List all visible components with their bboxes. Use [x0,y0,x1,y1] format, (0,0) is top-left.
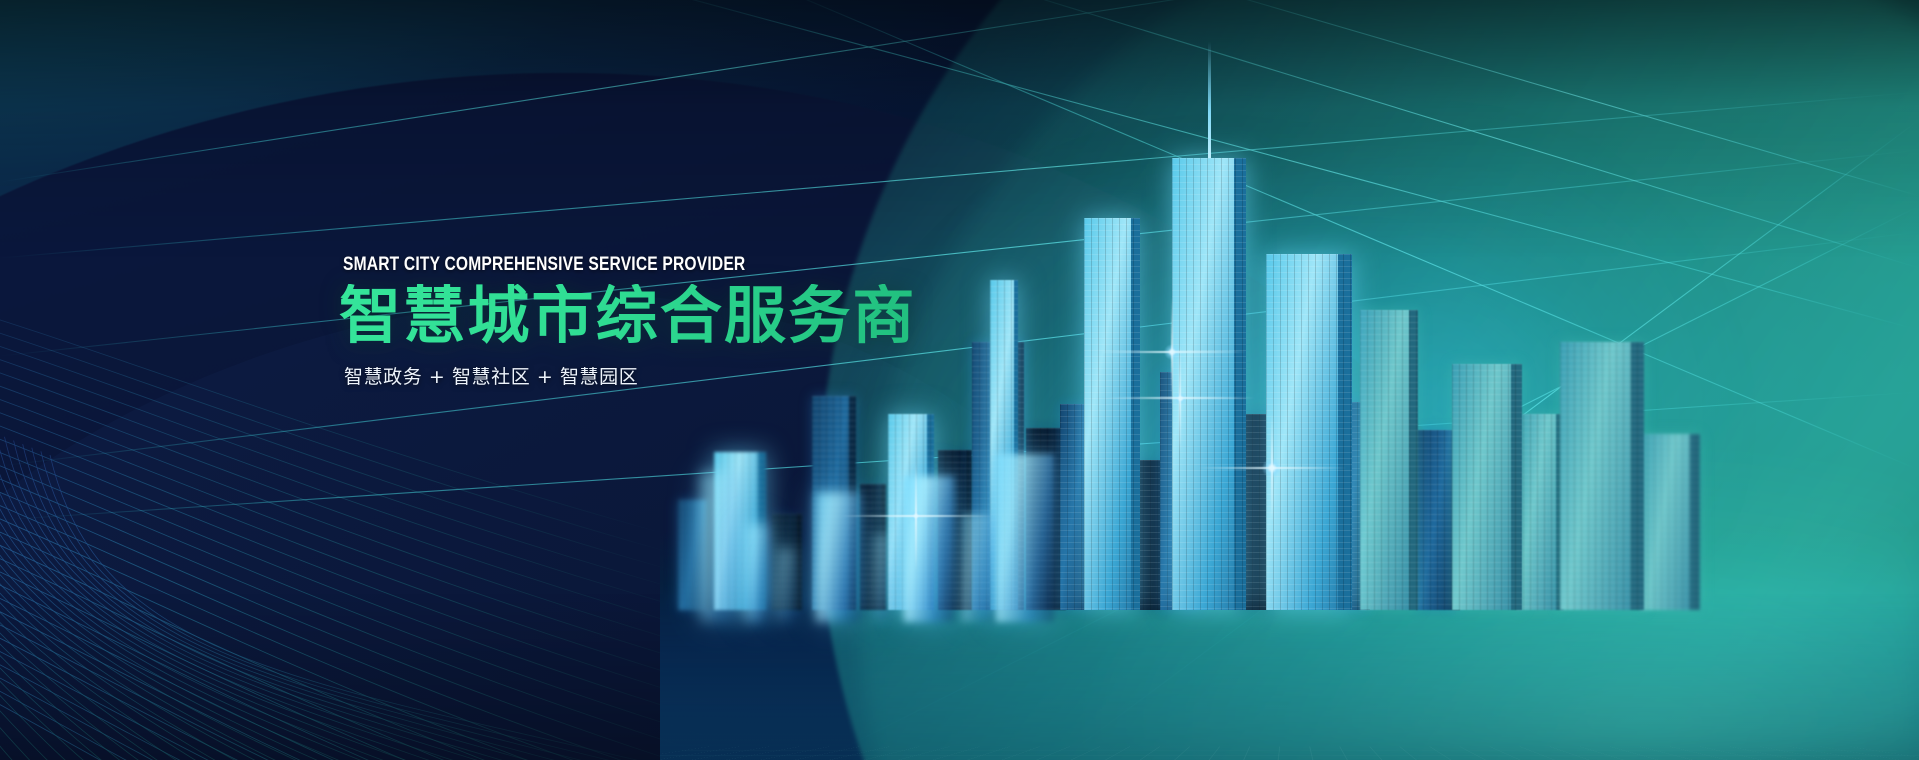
hero-headline-chinese: 智慧城市综合服务商 [339,284,1103,348]
lens-flare [1174,392,1187,405]
building [1360,310,1418,610]
building [1266,254,1352,610]
hero-eyebrow-english: SMART CITY COMPREHENSIVE SERVICE PROVIDE… [343,253,951,276]
foreground-bar [700,472,738,622]
building [1516,414,1564,610]
building [1560,342,1644,610]
window-mullions [1452,364,1522,610]
foreground-bar [962,514,996,622]
window-mullions [1084,218,1140,610]
foreground-bar [816,492,860,622]
building [1172,158,1246,610]
lens-flare [910,510,922,522]
lens-flare [1262,458,1282,478]
window-mullions [1516,414,1564,610]
smart-city-hero-banner: SMART CITY COMPREHENSIVE SERVICE PROVIDE… [0,0,1919,760]
tower-spire [1208,42,1211,158]
window-mullions [1640,434,1700,610]
window-mullions [1360,310,1418,610]
foreground-bar [904,476,954,622]
lens-flare [1164,344,1180,360]
foreground-bar [874,534,890,622]
foreground-bar [746,524,768,622]
window-mullions [1266,254,1352,610]
window-mullions [1560,342,1644,610]
building [1452,364,1522,610]
foreground-bar [996,454,1054,622]
building [1084,218,1140,610]
foreground-bar [778,548,796,622]
window-mullions [1172,158,1246,610]
building [1640,434,1700,610]
